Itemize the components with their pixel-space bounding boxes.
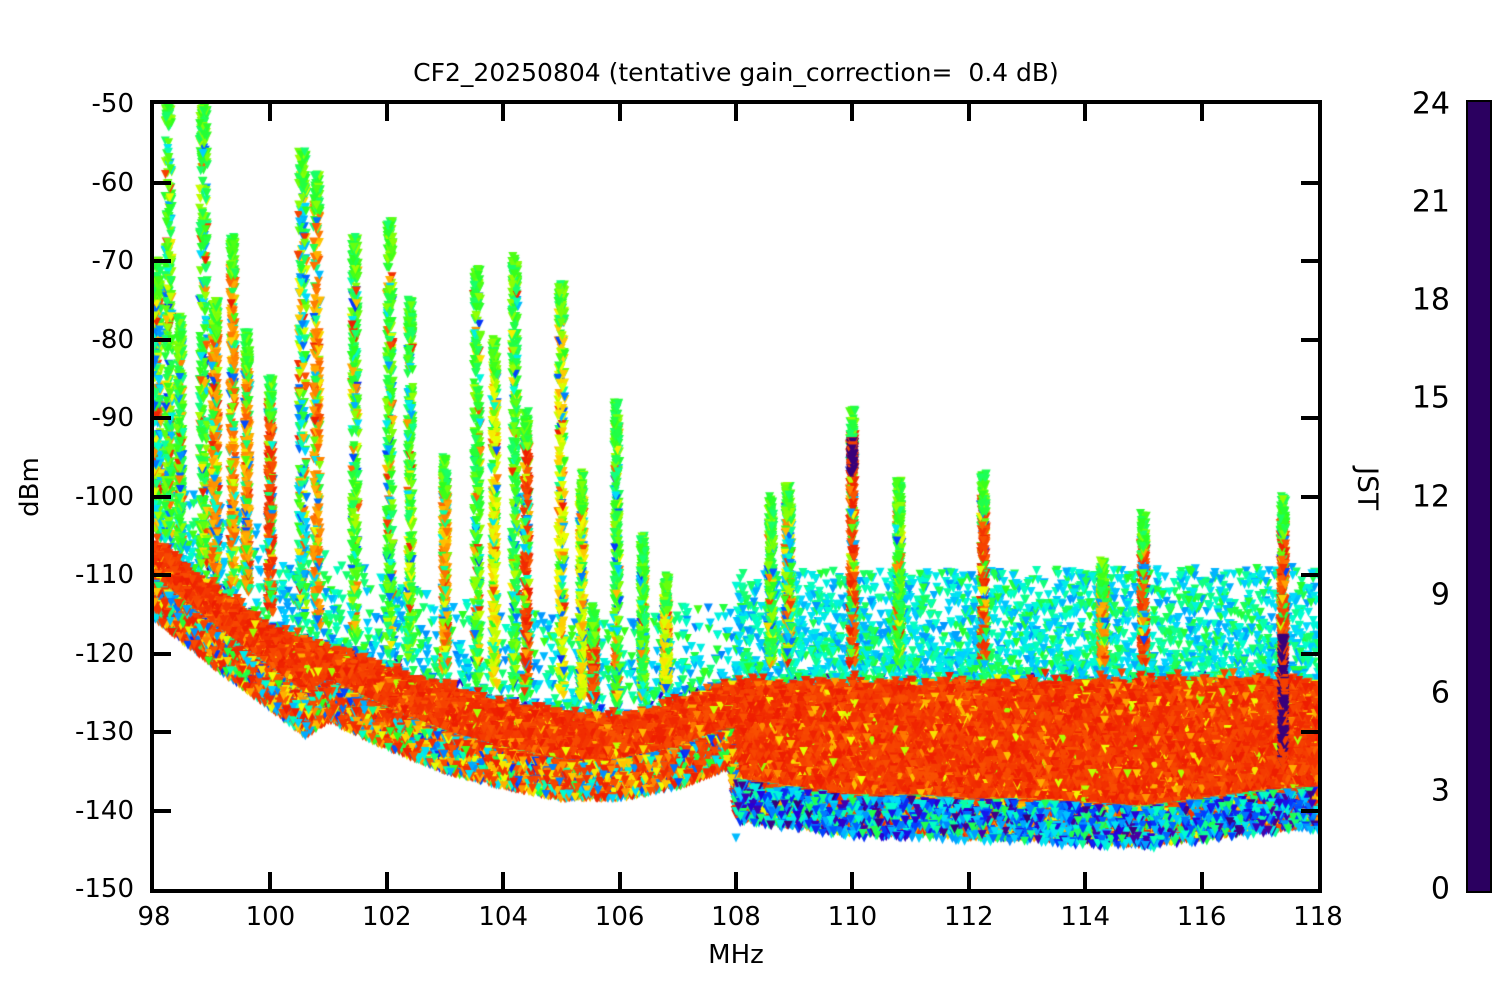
colorbar-tick-label: 18 bbox=[1412, 283, 1450, 318]
y-tick-mark bbox=[154, 338, 171, 342]
y-tick-label: -90 bbox=[0, 403, 134, 433]
y-tick-label: -120 bbox=[0, 639, 134, 669]
x-tick-mark bbox=[734, 872, 738, 889]
colorbar-tick-label: 12 bbox=[1412, 479, 1450, 514]
x-tick-mark-top bbox=[734, 104, 738, 121]
colorbar-tick-label: 3 bbox=[1431, 773, 1450, 808]
scatter-plot-canvas[interactable] bbox=[154, 104, 1318, 889]
x-tick-label: 104 bbox=[478, 902, 528, 932]
y-tick-label: -130 bbox=[0, 717, 134, 747]
y-tick-mark-right bbox=[1301, 495, 1318, 499]
x-tick-label: 98 bbox=[137, 902, 170, 932]
y-tick-label: -110 bbox=[0, 560, 134, 590]
x-tick-label: 100 bbox=[246, 902, 296, 932]
colorbar-tick-label: 24 bbox=[1412, 87, 1450, 122]
colorbar-tick-label: 0 bbox=[1431, 872, 1450, 907]
y-tick-mark-right bbox=[1301, 259, 1318, 263]
colorbar[interactable] bbox=[1466, 100, 1492, 893]
x-tick-label: 108 bbox=[711, 902, 761, 932]
x-tick-mark-top bbox=[850, 104, 854, 121]
y-tick-label: -80 bbox=[0, 325, 134, 355]
y-tick-mark-right bbox=[1301, 416, 1318, 420]
x-tick-mark-top bbox=[967, 104, 971, 121]
y-tick-mark bbox=[154, 495, 171, 499]
y-tick-mark-right bbox=[1301, 181, 1318, 185]
y-tick-label: -70 bbox=[0, 246, 134, 276]
x-tick-mark bbox=[268, 872, 272, 889]
x-tick-label: 118 bbox=[1293, 902, 1343, 932]
y-tick-mark bbox=[154, 416, 171, 420]
chart-title: CF2_20250804 (tentative gain_correction=… bbox=[150, 58, 1322, 87]
x-tick-mark-top bbox=[501, 104, 505, 121]
x-tick-label: 112 bbox=[944, 902, 994, 932]
colorbar-tick-label: 15 bbox=[1412, 381, 1450, 416]
x-tick-mark-top bbox=[385, 104, 389, 121]
y-tick-label: -140 bbox=[0, 796, 134, 826]
y-tick-mark bbox=[154, 652, 171, 656]
colorbar-tick-label: 6 bbox=[1431, 675, 1450, 710]
colorbar-gradient bbox=[1466, 100, 1492, 893]
y-tick-mark-right bbox=[1301, 809, 1318, 813]
x-tick-mark bbox=[967, 872, 971, 889]
y-tick-mark-right bbox=[1301, 338, 1318, 342]
y-tick-mark-right bbox=[1301, 730, 1318, 734]
y-tick-mark bbox=[154, 730, 171, 734]
x-tick-mark-top bbox=[268, 104, 272, 121]
y-tick-mark bbox=[154, 573, 171, 577]
x-tick-mark bbox=[1200, 872, 1204, 889]
x-tick-mark bbox=[1083, 872, 1087, 889]
y-tick-mark-right bbox=[1301, 573, 1318, 577]
x-tick-mark bbox=[385, 872, 389, 889]
x-tick-mark bbox=[850, 872, 854, 889]
x-tick-mark bbox=[501, 872, 505, 889]
x-tick-mark-top bbox=[1083, 104, 1087, 121]
y-tick-mark-right bbox=[1301, 652, 1318, 656]
x-tick-mark-top bbox=[618, 104, 622, 121]
colorbar-title: JST bbox=[1352, 439, 1385, 539]
y-tick-label: -60 bbox=[0, 168, 134, 198]
y-tick-label: -150 bbox=[0, 874, 134, 904]
x-axis-label: MHz bbox=[0, 940, 1472, 970]
y-tick-label: -50 bbox=[0, 89, 134, 119]
x-tick-label: 114 bbox=[1060, 902, 1110, 932]
x-tick-label: 116 bbox=[1177, 902, 1227, 932]
x-tick-label: 106 bbox=[595, 902, 645, 932]
plot-area[interactable] bbox=[150, 100, 1322, 893]
x-tick-mark bbox=[618, 872, 622, 889]
x-tick-mark-top bbox=[1200, 104, 1204, 121]
y-tick-mark bbox=[154, 181, 171, 185]
colorbar-tick-labels: 03691215182124 bbox=[1380, 0, 1460, 1000]
y-tick-mark bbox=[154, 259, 171, 263]
x-tick-label: 102 bbox=[362, 902, 412, 932]
y-axis-label: dBm bbox=[15, 437, 45, 537]
colorbar-tick-label: 9 bbox=[1431, 577, 1450, 612]
colorbar-tick-label: 21 bbox=[1412, 185, 1450, 220]
y-tick-mark bbox=[154, 809, 171, 813]
x-tick-label: 110 bbox=[828, 902, 878, 932]
